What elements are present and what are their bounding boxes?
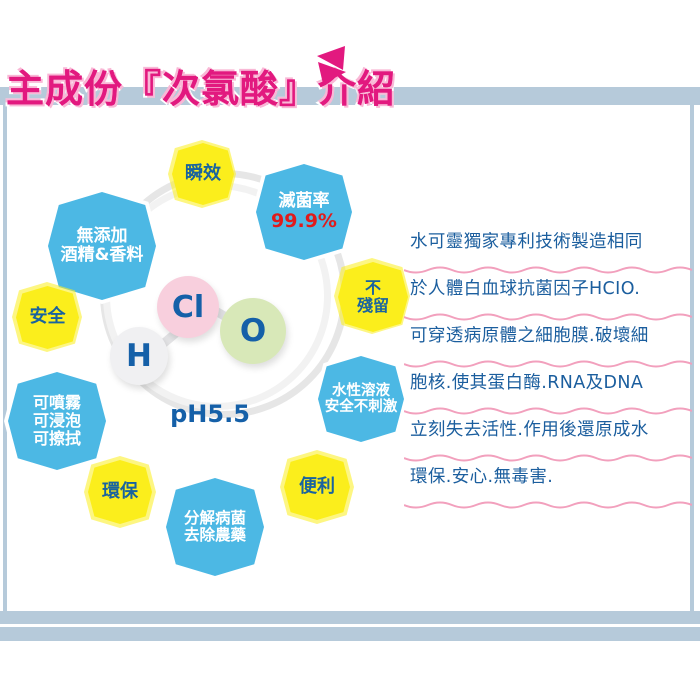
badge-usage-modes[interactable]: 可噴霧 可浸泡 可擦拭	[8, 372, 106, 470]
atom-oxygen: O	[220, 298, 286, 364]
badge-line: 殘留	[357, 297, 389, 315]
atom-chlorine-label: Cl	[172, 290, 204, 325]
badge-instant-text: 瞬效	[185, 164, 221, 184]
description-line: 於人體白血球抗菌因子HCIO.	[410, 275, 688, 322]
description-line: 可穿透病原體之細胞膜.破壞細	[410, 322, 688, 369]
bottom-border-band-1	[0, 611, 700, 624]
badge-no-additives[interactable]: 無添加 酒精&香料	[48, 192, 156, 300]
badge-safe[interactable]: 安全	[16, 286, 79, 349]
description-text: 可穿透病原體之細胞膜.破壞細	[410, 322, 688, 350]
wavy-underline	[404, 407, 692, 416]
wavy-underline	[404, 360, 692, 369]
badge-kill-rate-percent: 99.9%	[271, 211, 337, 232]
ph-value-label: pH5.5	[140, 400, 280, 428]
badge-no-residue-text: 不 殘留	[357, 279, 389, 315]
wavy-underline	[404, 313, 692, 322]
badge-eco[interactable]: 環保	[88, 460, 152, 524]
atom-hydrogen-label: H	[126, 338, 152, 374]
badge-kill-rate-text: 滅菌率 99.9%	[271, 192, 337, 232]
bottom-border-band-2	[0, 627, 700, 641]
badge-convenient[interactable]: 便利	[284, 454, 350, 520]
badge-line: 便利	[299, 477, 335, 497]
badge-line: 可噴霧	[33, 394, 81, 412]
description-text: 環保.安心.無毒害.	[410, 463, 688, 491]
badge-line: 不	[357, 279, 389, 297]
badge-usage-modes-text: 可噴霧 可浸泡 可擦拭	[33, 394, 81, 448]
badge-line: 瞬效	[185, 164, 221, 184]
badge-no-additives-text: 無添加 酒精&香料	[61, 227, 144, 265]
badge-no-residue[interactable]: 不 殘留	[338, 262, 408, 332]
wavy-underline	[404, 501, 692, 510]
description-text: 於人體白血球抗菌因子HCIO.	[410, 275, 688, 303]
badge-line: 酒精&香料	[61, 246, 144, 265]
badge-line: 滅菌率	[271, 192, 337, 211]
badge-kill-rate[interactable]: 滅菌率 99.9%	[256, 164, 352, 260]
badge-line: 可擦拭	[33, 430, 81, 448]
badge-line: 安全不刺激	[325, 399, 398, 415]
badge-water-based[interactable]: 水性溶液 安全不刺激	[318, 356, 404, 442]
atom-oxygen-label: O	[240, 313, 266, 349]
badge-line: 無添加	[61, 227, 144, 246]
badge-decompose[interactable]: 分解病菌 去除農藥	[166, 478, 264, 576]
description-line: 立刻失去活性.作用後還原成水	[410, 416, 688, 463]
hclo-molecule-diagram: H Cl O pH5.5 無添加 酒精&香料 瞬效 滅菌率	[0, 110, 420, 600]
sparkle-icon	[305, 44, 351, 94]
description-text: 立刻失去活性.作用後還原成水	[410, 416, 688, 444]
badge-line: 水性溶液	[325, 383, 398, 399]
description-line: 胞核.使其蛋白酶.RNA及DNA	[410, 369, 688, 416]
badge-line: 分解病菌	[184, 510, 246, 527]
description-text: 胞核.使其蛋白酶.RNA及DNA	[410, 369, 688, 397]
badge-eco-text: 環保	[102, 482, 138, 502]
wavy-underline	[404, 266, 692, 275]
description-text: 水可靈獨家專利技術製造相同	[410, 228, 688, 256]
description-panel: 水可靈獨家專利技術製造相同 於人體白血球抗菌因子HCIO. 可穿透病原體之細胞膜…	[410, 228, 688, 510]
atom-chlorine: Cl	[157, 276, 219, 338]
atom-hydrogen: H	[110, 327, 168, 385]
badge-line: 可浸泡	[33, 412, 81, 430]
wavy-underline	[404, 454, 692, 463]
badge-line: 安全	[30, 307, 66, 327]
description-line: 環保.安心.無毒害.	[410, 463, 688, 510]
badge-safe-text: 安全	[30, 307, 66, 327]
right-border-rule	[690, 105, 694, 611]
badge-line: 環保	[102, 482, 138, 502]
infographic-canvas: 主成份『次氯酸』介紹 主成份『次氯酸』介紹 H Cl O pH5.5 無添加 酒…	[0, 0, 700, 700]
badge-convenient-text: 便利	[299, 477, 335, 497]
badge-line: 去除農藥	[184, 527, 246, 544]
badge-water-based-text: 水性溶液 安全不刺激	[325, 383, 398, 415]
description-line: 水可靈獨家專利技術製造相同	[410, 228, 688, 275]
badge-decompose-text: 分解病菌 去除農藥	[184, 510, 246, 545]
badge-instant[interactable]: 瞬效	[172, 143, 234, 205]
